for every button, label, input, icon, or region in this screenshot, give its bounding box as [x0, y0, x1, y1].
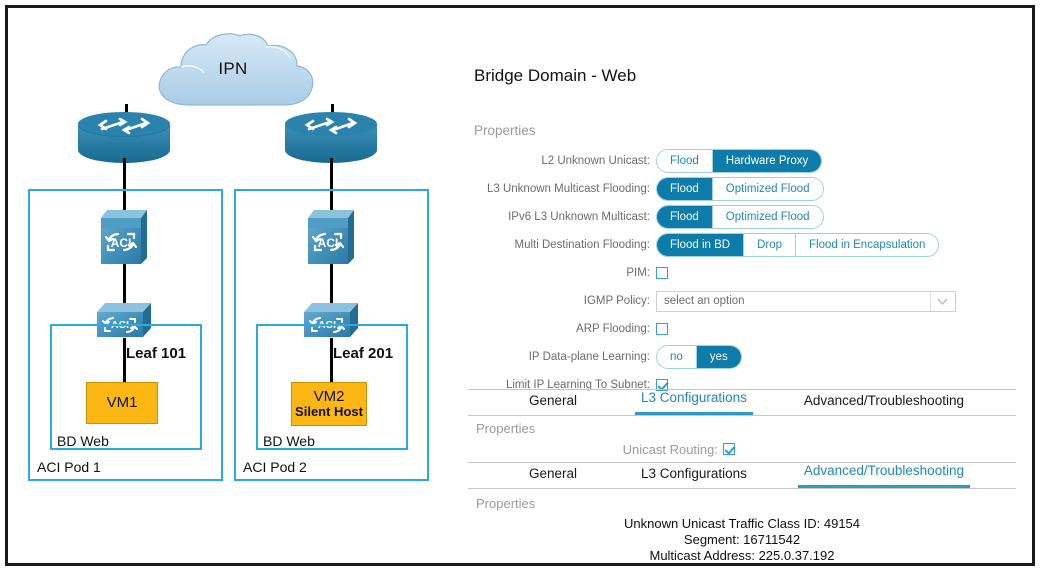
seg-option-hardware-proxy[interactable]: Hardware Proxy — [713, 150, 821, 172]
properties-heading: Properties — [474, 123, 536, 138]
router-icon-right — [283, 112, 379, 164]
ipn-label: IPN — [148, 59, 318, 79]
bd-web-label-pod1: BD Web — [57, 433, 109, 449]
adv-properties-heading: Properties — [468, 492, 1016, 513]
vm2-node: VM2 Silent Host — [291, 382, 367, 426]
seg-option-flood[interactable]: Flood — [657, 178, 713, 200]
aci-pod-1-label: ACI Pod 1 — [37, 459, 101, 475]
multicast-address-value: Multicast Address: 225.0.37.192 — [468, 548, 1016, 564]
link-leaf-vm2 — [330, 338, 333, 384]
tab-general[interactable]: General — [523, 461, 583, 488]
tab-general[interactable]: General — [523, 388, 583, 415]
segmented-ip-dataplane-learning[interactable]: no yes — [656, 345, 742, 369]
ipn-cloud: IPN — [148, 31, 318, 113]
page-title: Bridge Domain - Web — [474, 66, 636, 86]
vm2-silent-host-label: Silent Host — [295, 405, 363, 419]
checkbox-arp-flooding[interactable] — [656, 323, 668, 335]
seg-option-optimized-flood[interactable]: Optimized Flood — [713, 178, 823, 200]
label-multi-destination-flooding: Multi Destination Flooding: — [460, 239, 656, 251]
spine-aci-text: ACI — [318, 236, 339, 250]
segmented-multi-destination-flooding[interactable]: Flood in BD Drop Flood in Encapsulation — [656, 233, 939, 257]
seg-option-flood[interactable]: Flood — [657, 150, 713, 172]
l3-configurations-section: Properties Unicast Routing: — [468, 417, 1016, 460]
label-ipv6-l3-unknown-multicast: IPv6 L3 Unknown Multicast: — [460, 211, 656, 223]
row-multi-destination-flooding: Multi Destination Flooding: Flood in BD … — [460, 232, 1020, 258]
spine-switch-pod1: ACI — [97, 206, 151, 266]
tab-l3-configurations[interactable]: L3 Configurations — [635, 385, 753, 415]
row-pim: PIM: — [460, 260, 1020, 286]
seg-option-no[interactable]: no — [657, 346, 697, 368]
row-arp-flooding: ARP Flooding: — [460, 316, 1020, 342]
screenshot-frame: IPN — [5, 5, 1035, 566]
segment-value: Segment: 16711542 — [468, 532, 1016, 548]
seg-option-flood[interactable]: Flood — [657, 206, 713, 228]
link-leaf-vm1 — [123, 338, 126, 384]
seg-option-flood-in-bd[interactable]: Flood in BD — [657, 234, 744, 256]
row-l3-unknown-multicast-flooding: L3 Unknown Multicast Flooding: Flood Opt… — [460, 176, 1020, 202]
router-icon-left — [76, 112, 172, 164]
label-l2-unknown-unicast: L2 Unknown Unicast: — [460, 155, 656, 167]
tab-l3-configurations[interactable]: L3 Configurations — [635, 461, 753, 488]
segmented-l3-unknown-multicast-flooding[interactable]: Flood Optimized Flood — [656, 177, 824, 201]
properties-rows: L2 Unknown Unicast: Flood Hardware Proxy… — [460, 148, 1020, 400]
tabbar-l3-configurations: General L3 Configurations Advanced/Troub… — [468, 389, 1016, 416]
select-igmp-policy-value: select an option — [664, 295, 745, 307]
l3-properties-heading: Properties — [468, 417, 1016, 438]
label-arp-flooding: ARP Flooding: — [460, 323, 656, 335]
tabbar-advanced-troubleshooting: General L3 Configurations Advanced/Troub… — [468, 462, 1016, 489]
bridge-domain-properties-panel: Bridge Domain - Web Properties L2 Unknow… — [460, 8, 1030, 563]
aci-pod-2-label: ACI Pod 2 — [243, 459, 307, 475]
row-igmp-policy: IGMP Policy: select an option — [460, 288, 1020, 314]
tab-advanced-troubleshooting[interactable]: Advanced/Troubleshooting — [798, 388, 970, 415]
label-unicast-routing: Unicast Routing: — [468, 442, 723, 457]
chevron-down-icon[interactable] — [930, 292, 953, 311]
checkbox-pim[interactable] — [656, 267, 668, 279]
bd-web-label-pod2: BD Web — [263, 433, 315, 449]
seg-option-drop[interactable]: Drop — [744, 234, 796, 256]
row-ipv6-l3-unknown-multicast: IPv6 L3 Unknown Multicast: Flood Optimiz… — [460, 204, 1020, 230]
vm1-node: VM1 — [86, 382, 158, 424]
unknown-unicast-traffic-class-id: Unknown Unicast Traffic Class ID: 49154 — [468, 516, 1016, 532]
segmented-ipv6-l3-unknown-multicast[interactable]: Flood Optimized Flood — [656, 205, 824, 229]
spine-switch-pod2: ACI — [304, 206, 358, 266]
vm1-label: VM1 — [107, 395, 138, 411]
row-ip-dataplane-learning: IP Data-plane Learning: no yes — [460, 344, 1020, 370]
seg-option-optimized-flood[interactable]: Optimized Flood — [713, 206, 823, 228]
label-pim: PIM: — [460, 267, 656, 279]
aci-multipod-diagram: IPN — [8, 8, 453, 563]
vm2-label: VM2 — [314, 389, 345, 405]
label-l3-unknown-multicast-flooding: L3 Unknown Multicast Flooding: — [460, 183, 656, 195]
tab-advanced-troubleshooting[interactable]: Advanced/Troubleshooting — [798, 458, 970, 488]
row-l2-unknown-unicast: L2 Unknown Unicast: Flood Hardware Proxy — [460, 148, 1020, 174]
adv-values: Unknown Unicast Traffic Class ID: 49154 … — [468, 513, 1016, 564]
seg-option-yes[interactable]: yes — [697, 346, 741, 368]
label-ip-dataplane-learning: IP Data-plane Learning: — [460, 351, 656, 363]
checkbox-unicast-routing[interactable] — [723, 443, 735, 455]
spine-aci-text: ACI — [111, 236, 132, 250]
advanced-troubleshooting-section: Properties Unknown Unicast Traffic Class… — [468, 492, 1016, 564]
select-igmp-policy[interactable]: select an option — [656, 291, 956, 312]
label-igmp-policy: IGMP Policy: — [460, 295, 656, 307]
row-unicast-routing: Unicast Routing: — [468, 438, 1016, 460]
seg-option-flood-in-encapsulation[interactable]: Flood in Encapsulation — [796, 234, 938, 256]
segmented-l2-unknown-unicast[interactable]: Flood Hardware Proxy — [656, 149, 822, 173]
